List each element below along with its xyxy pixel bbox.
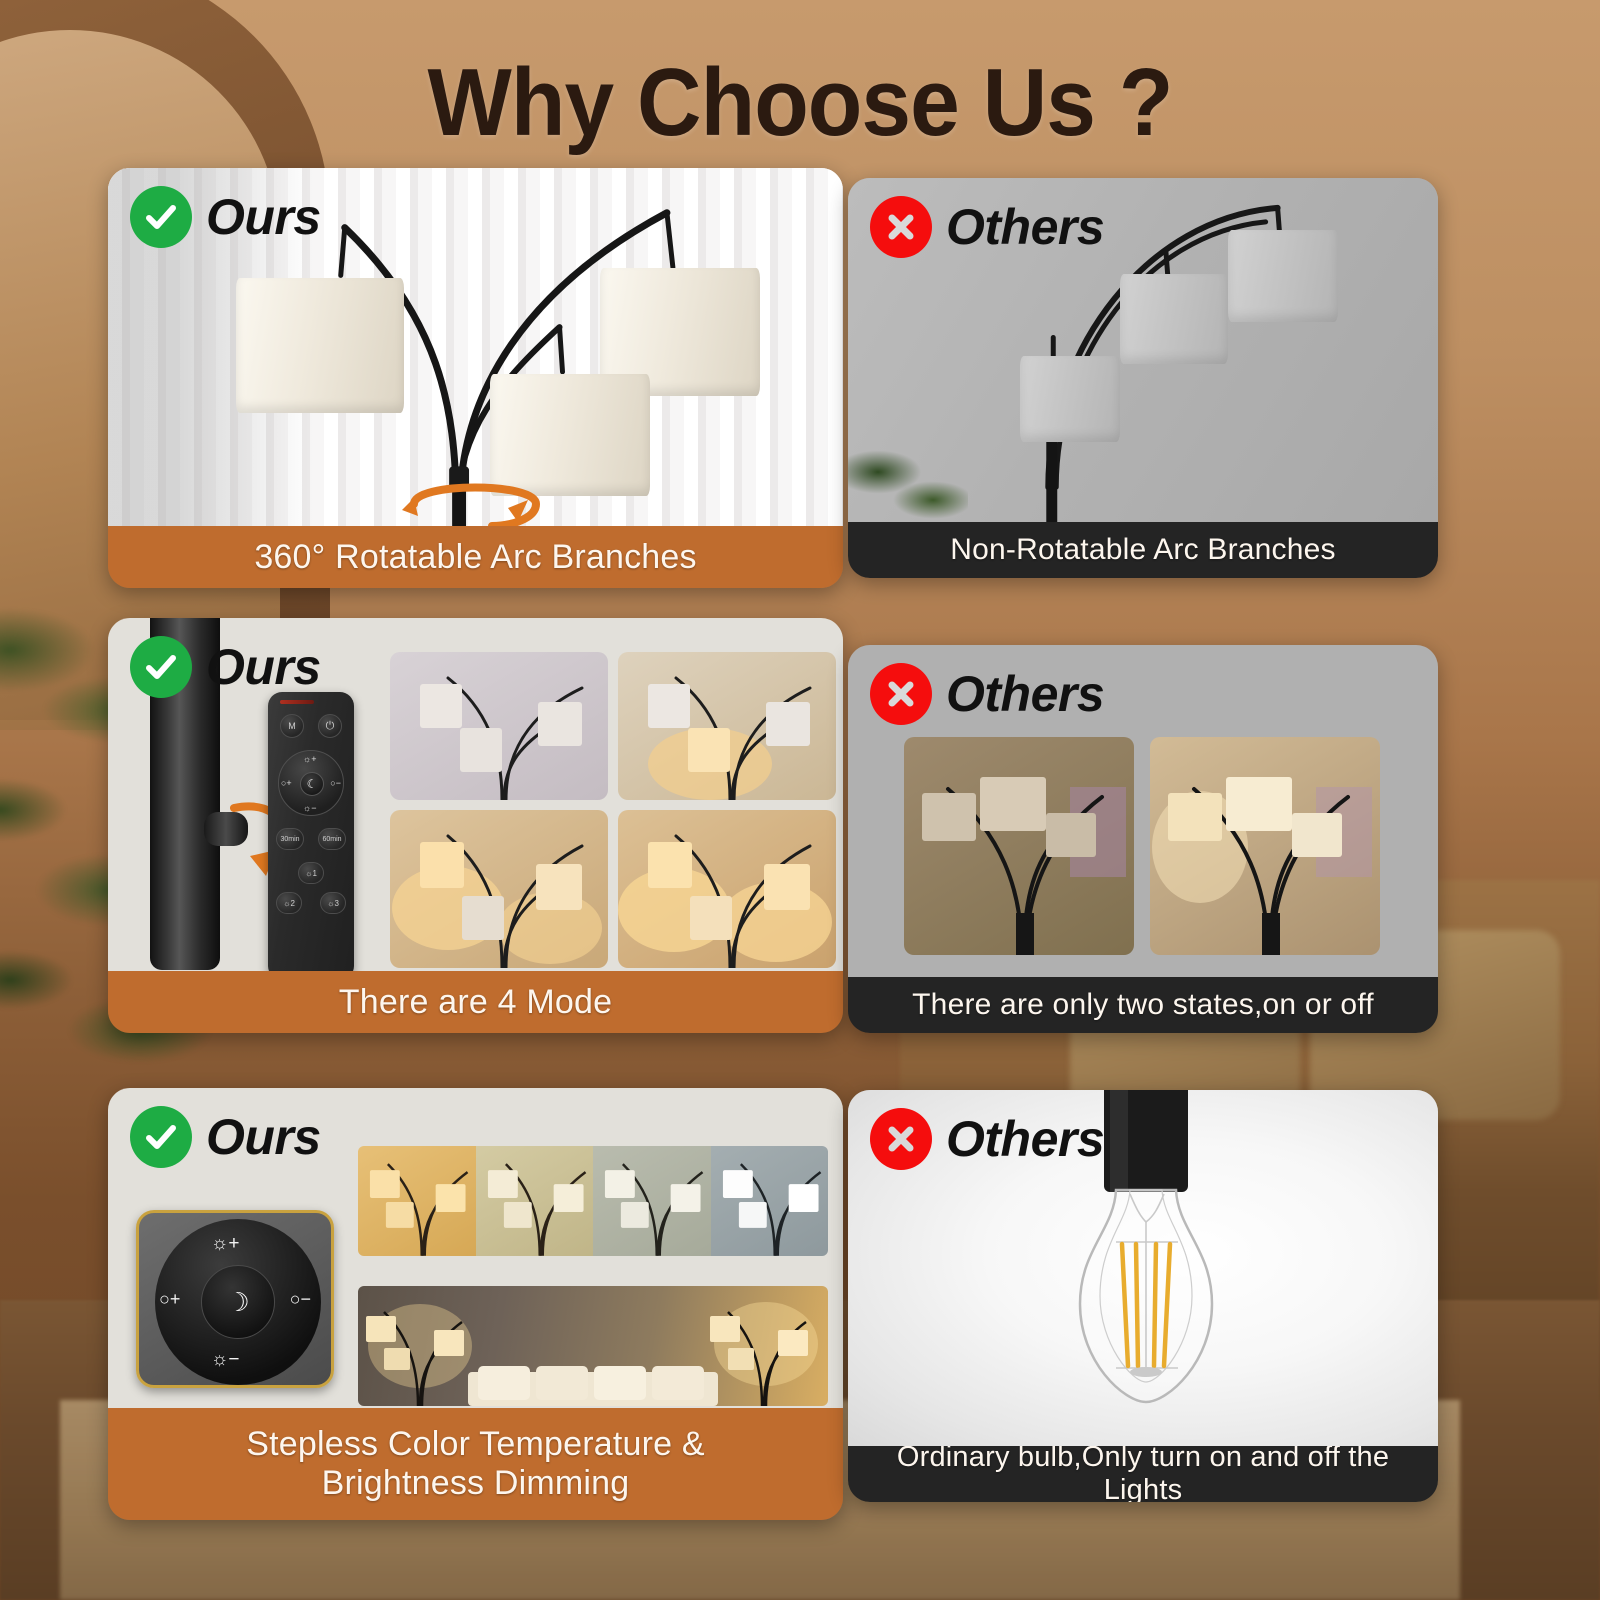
badge-others: Others	[870, 663, 1104, 725]
brightness-down-icon: ☼−	[303, 803, 317, 813]
lamp-off-photo	[904, 737, 1134, 955]
caption-modes-ours: There are 4 Mode	[108, 971, 843, 1033]
card-image-area: M ⏻ ☼+ ☼− ○+ ○− ☾ 30min 60min ☼1 ☼2 ☼3	[108, 618, 843, 971]
badge-others: Others	[870, 196, 1104, 258]
card-image-area: Others	[848, 645, 1438, 977]
remote-light-2-button[interactable]: ☼2	[276, 892, 302, 914]
card-image-area: Ours	[108, 168, 843, 526]
card-image-area: Others	[848, 1090, 1438, 1446]
remote-led-indicator	[280, 700, 314, 704]
remote-power-button[interactable]: ⏻	[318, 714, 342, 738]
caption-dimming-ours: Stepless Color Temperature & Brightness …	[108, 1408, 843, 1520]
remote-light-1-button[interactable]: ☼1	[298, 862, 324, 884]
comparison-card-dimming-ours: ☼+ ☼− ○+ ○− ☽	[108, 1088, 843, 1520]
rotation-arrow-icon	[400, 468, 550, 526]
comparison-card-modes-others: Others There are only two states,on or o…	[848, 645, 1438, 1033]
remote-timer-30-button[interactable]: 30min	[276, 828, 304, 850]
mode-photo-tile	[390, 652, 608, 800]
card-image-area: Others	[848, 178, 1438, 522]
caption-rotation-ours: 360° Rotatable Arc Branches	[108, 526, 843, 588]
badge-label-others: Others	[946, 665, 1104, 723]
badge-label-ours: Ours	[206, 1108, 321, 1166]
color-temp-down-icon: ○−	[290, 1289, 311, 1310]
lamp-shade	[1228, 230, 1338, 322]
mode-photo-tile	[390, 810, 608, 968]
remote-dial[interactable]: ☼+ ☼− ○+ ○− ☾	[278, 750, 344, 816]
brightness-down-icon: ☼−	[211, 1349, 240, 1371]
color-temp-panel-cool	[711, 1146, 829, 1256]
dimming-dial-pad[interactable]: ☼+ ☼− ○+ ○− ☽	[136, 1210, 334, 1388]
badge-label-others: Others	[946, 198, 1104, 256]
night-mode-icon[interactable]: ☽	[201, 1265, 275, 1339]
lamp-on-photo	[1150, 737, 1380, 955]
lamp-shade	[1120, 274, 1228, 364]
check-icon	[130, 186, 192, 248]
infographic-canvas: Why Choose Us ?	[0, 0, 1600, 1600]
remote-timer-60-button[interactable]: 60min	[318, 828, 346, 850]
caption-dimming-others: Ordinary bulb,Only turn on and off the L…	[848, 1446, 1438, 1502]
caption-modes-others: There are only two states,on or off	[848, 977, 1438, 1033]
check-icon	[130, 1106, 192, 1168]
cross-icon	[870, 663, 932, 725]
lamp-shade	[236, 278, 404, 413]
card-image-area: ☼+ ☼− ○+ ○− ☽	[108, 1088, 843, 1408]
badge-label-others: Others	[946, 1110, 1104, 1168]
badge-label-ours: Ours	[206, 188, 321, 246]
comparison-card-dimming-others: Others Ordinary bulb,Only turn on and of…	[848, 1090, 1438, 1502]
comparison-card-rotation-others: Others Non-Rotatable Arc Branches	[848, 178, 1438, 578]
color-temp-up-icon: ○+	[281, 778, 292, 788]
living-room-photo	[358, 1286, 828, 1406]
mode-photo-tile	[618, 810, 836, 968]
mode-photo-tile	[618, 652, 836, 800]
badge-label-ours: Ours	[206, 638, 321, 696]
night-mode-icon[interactable]: ☾	[300, 772, 324, 796]
brightness-up-icon: ☼+	[211, 1233, 240, 1255]
comparison-card-rotation-ours: Ours 360° Rotatable Arc Branches	[108, 168, 843, 588]
badge-ours: Ours	[130, 636, 321, 698]
remote-mode-button[interactable]: M	[280, 714, 304, 738]
color-temperature-strip	[358, 1146, 828, 1256]
color-temp-panel-soft	[476, 1146, 594, 1256]
remote-control[interactable]: M ⏻ ☼+ ☼− ○+ ○− ☾ 30min 60min ☼1 ☼2 ☼3	[268, 692, 354, 971]
lamp-shade	[1020, 356, 1120, 442]
badge-others: Others	[870, 1108, 1104, 1170]
brightness-up-icon: ☼+	[303, 754, 317, 764]
caption-line-1: Stepless Color Temperature &	[246, 1425, 705, 1464]
caption-line-2: Brightness Dimming	[322, 1464, 630, 1503]
badge-ours: Ours	[130, 1106, 321, 1168]
cross-icon	[870, 1108, 932, 1170]
color-temp-panel-neutral	[593, 1146, 711, 1256]
cross-icon	[870, 196, 932, 258]
color-temp-panel-warm	[358, 1146, 476, 1256]
color-temp-down-icon: ○−	[330, 778, 341, 788]
check-icon	[130, 636, 192, 698]
badge-ours: Ours	[130, 186, 321, 248]
color-temp-up-icon: ○+	[159, 1289, 180, 1310]
page-title: Why Choose Us ?	[56, 48, 1544, 158]
caption-rotation-others: Non-Rotatable Arc Branches	[848, 522, 1438, 578]
remote-light-3-button[interactable]: ☼3	[320, 892, 346, 914]
background-plant-leaf	[848, 442, 968, 522]
comparison-card-modes-ours: M ⏻ ☼+ ☼− ○+ ○− ☾ 30min 60min ☼1 ☼2 ☼3	[108, 618, 843, 1033]
